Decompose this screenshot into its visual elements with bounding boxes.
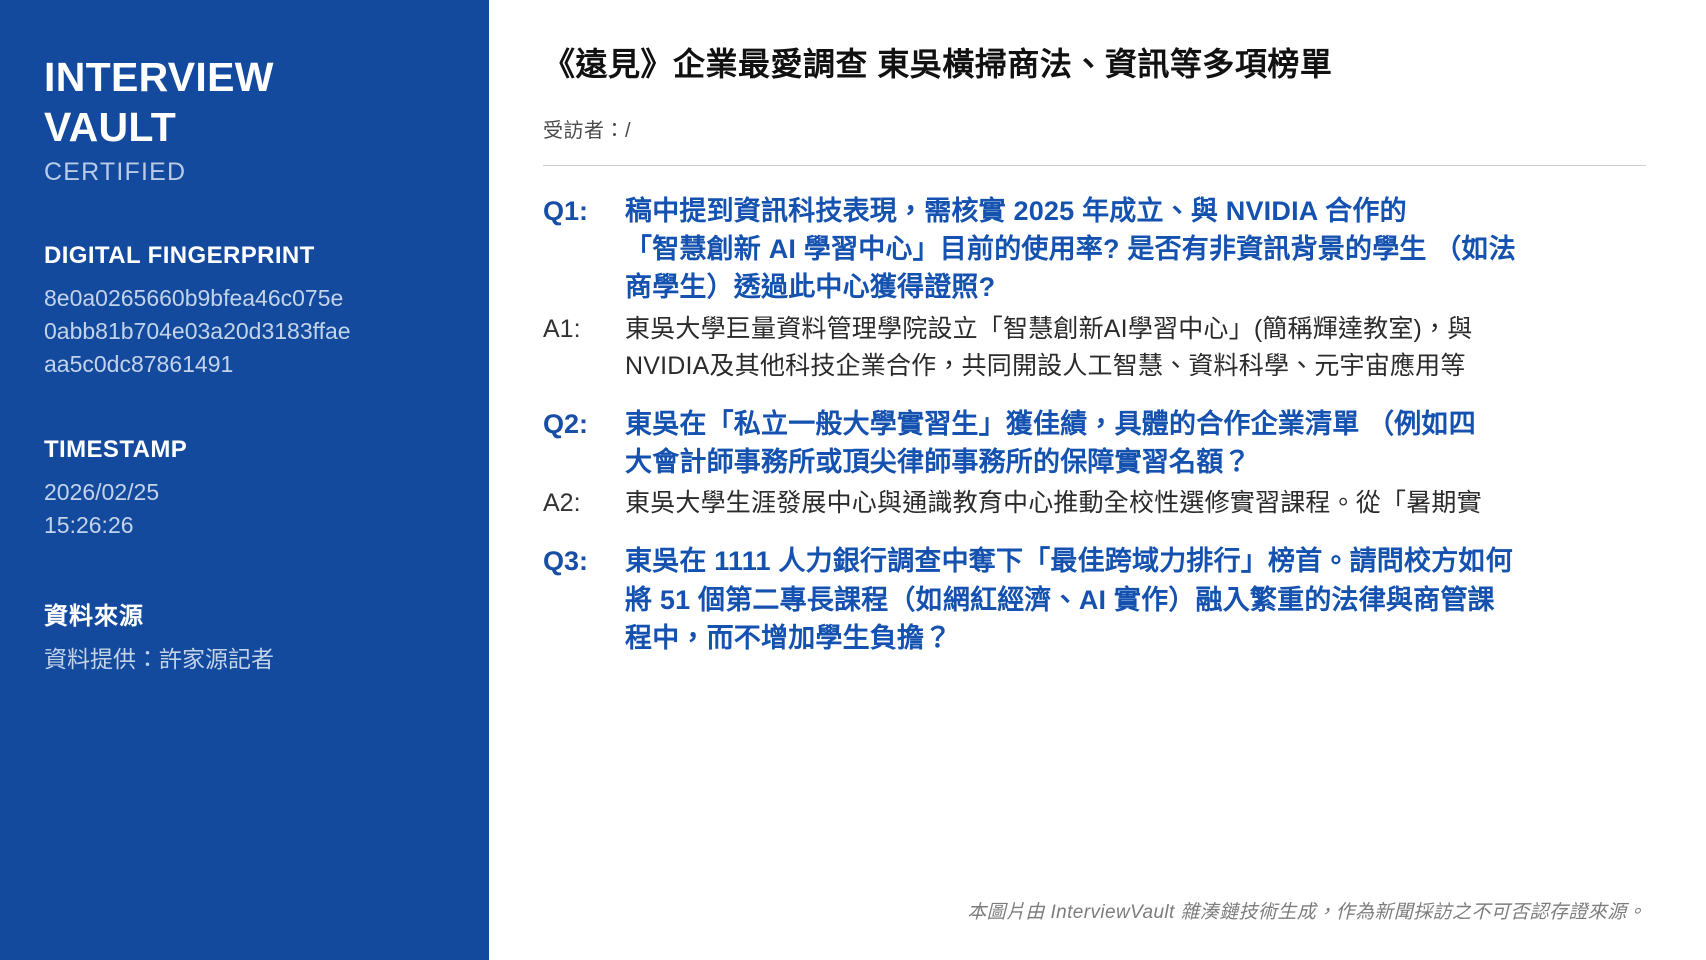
answer-text: 東吳大學生涯發展中心與通識教育中心推動全校性選修實習課程。從「暑期實 [625, 485, 1706, 522]
question-line: 東吳在 1111 人力銀行調查中奪下「最佳跨域力排行」榜首。請問校方如何 [625, 542, 1706, 580]
main-content: 《遠見》企業最愛調查 東吳橫掃商法、資訊等多項榜單 受訪者：/ Q1: 稿中提到… [489, 0, 1706, 960]
brand-title-line2: VAULT [44, 104, 176, 150]
digital-fingerprint-heading: DIGITAL FINGERPRINT [44, 242, 445, 270]
question-line: 將 51 個第二專長課程（如網紅經濟、AI 實作）融入繁重的法律與商管課 [625, 581, 1706, 619]
timestamp-value: 2026/02/25 15:26:26 [44, 476, 354, 542]
interviewee-row: 受訪者：/ [543, 114, 1706, 143]
answer-row: A1: 東吳大學巨量資料管理學院設立「智慧創新AI學習中心」(簡稱輝達教室)，與… [543, 311, 1706, 385]
question-line: 大會計師事務所或頂尖律師事務所的保障實習名額？ [625, 443, 1706, 481]
page-title: 《遠見》企業最愛調查 東吳橫掃商法、資訊等多項榜單 [543, 44, 1706, 86]
question-row: Q1: 稿中提到資訊科技表現，需核實 2025 年成立、與 NVIDIA 合作的… [543, 192, 1706, 307]
question-line: 商學生）透過此中心獲得證照? [625, 268, 1706, 306]
answer-line: NVIDIA及其他科技企業合作，共同開設人工智慧、資料科學、元宇宙應用等 [625, 348, 1706, 385]
question-tag: Q2: [543, 405, 625, 443]
source-value: 資料提供：許家源記者 [44, 643, 354, 676]
header-divider [543, 165, 1646, 166]
timestamp-heading: TIMESTAMP [44, 436, 445, 464]
certified-interview-page: INTERVIEW VAULT CERTIFIED DIGITAL FINGER… [0, 0, 1706, 960]
brand-title-line1: INTERVIEW [44, 54, 274, 100]
answer-line: 東吳大學巨量資料管理學院設立「智慧創新AI學習中心」(簡稱輝達教室)，與 [625, 311, 1706, 348]
question-line: 程中，而不增加學生負擔？ [625, 619, 1706, 657]
question-row: Q2: 東吳在「私立一般大學實習生」獲佳績，具體的合作企業清單 （例如四 大會計… [543, 405, 1706, 482]
question-tag: Q3: [543, 542, 625, 580]
sidebar: INTERVIEW VAULT CERTIFIED DIGITAL FINGER… [0, 0, 489, 960]
answer-tag: A2: [543, 485, 625, 522]
timestamp-time: 15:26:26 [44, 509, 354, 542]
qa-block: Q2: 東吳在「私立一般大學實習生」獲佳績，具體的合作企業清單 （例如四 大會計… [543, 405, 1706, 523]
timestamp-date: 2026/02/25 [44, 476, 354, 509]
interviewee-label: 受訪者： [543, 120, 625, 142]
source-section: 資料來源 資料提供：許家源記者 [44, 596, 445, 676]
qa-list: Q1: 稿中提到資訊科技表現，需核實 2025 年成立、與 NVIDIA 合作的… [543, 192, 1706, 658]
question-line: 東吳在「私立一般大學實習生」獲佳績，具體的合作企業清單 （例如四 [625, 405, 1706, 443]
qa-block: Q3: 東吳在 1111 人力銀行調查中奪下「最佳跨域力排行」榜首。請問校方如何… [543, 542, 1706, 657]
timestamp-section: TIMESTAMP 2026/02/25 15:26:26 [44, 436, 445, 542]
footnote: 本圖片由 InterviewVault 雜湊鏈技術生成，作為新聞採訪之不可否認存… [967, 897, 1646, 924]
interviewee-value: / [625, 120, 631, 142]
answer-text: 東吳大學巨量資料管理學院設立「智慧創新AI學習中心」(簡稱輝達教室)，與 NVI… [625, 311, 1706, 385]
question-text: 稿中提到資訊科技表現，需核實 2025 年成立、與 NVIDIA 合作的 「智慧… [625, 192, 1706, 307]
answer-tag: A1: [543, 311, 625, 348]
brand-subtitle: CERTIFIED [44, 158, 445, 187]
digital-fingerprint-value: 8e0a0265660b9bfea46c075e0abb81b704e03a20… [44, 282, 354, 381]
question-text: 東吳在 1111 人力銀行調查中奪下「最佳跨域力排行」榜首。請問校方如何 將 5… [625, 542, 1706, 657]
source-heading: 資料來源 [44, 596, 445, 631]
question-text: 東吳在「私立一般大學實習生」獲佳績，具體的合作企業清單 （例如四 大會計師事務所… [625, 405, 1706, 482]
brand-title: INTERVIEW VAULT [44, 52, 314, 152]
answer-line: 東吳大學生涯發展中心與通識教育中心推動全校性選修實習課程。從「暑期實 [625, 485, 1706, 522]
question-line: 稿中提到資訊科技表現，需核實 2025 年成立、與 NVIDIA 合作的 [625, 192, 1706, 230]
question-tag: Q1: [543, 192, 625, 230]
question-line: 「智慧創新 AI 學習中心」目前的使用率? 是否有非資訊背景的學生 （如法 [625, 230, 1706, 268]
brand-block: INTERVIEW VAULT CERTIFIED [44, 52, 445, 187]
answer-row: A2: 東吳大學生涯發展中心與通識教育中心推動全校性選修實習課程。從「暑期實 [543, 485, 1706, 522]
question-row: Q3: 東吳在 1111 人力銀行調查中奪下「最佳跨域力排行」榜首。請問校方如何… [543, 542, 1706, 657]
qa-block: Q1: 稿中提到資訊科技表現，需核實 2025 年成立、與 NVIDIA 合作的… [543, 192, 1706, 385]
digital-fingerprint-section: DIGITAL FINGERPRINT 8e0a0265660b9bfea46c… [44, 242, 445, 381]
